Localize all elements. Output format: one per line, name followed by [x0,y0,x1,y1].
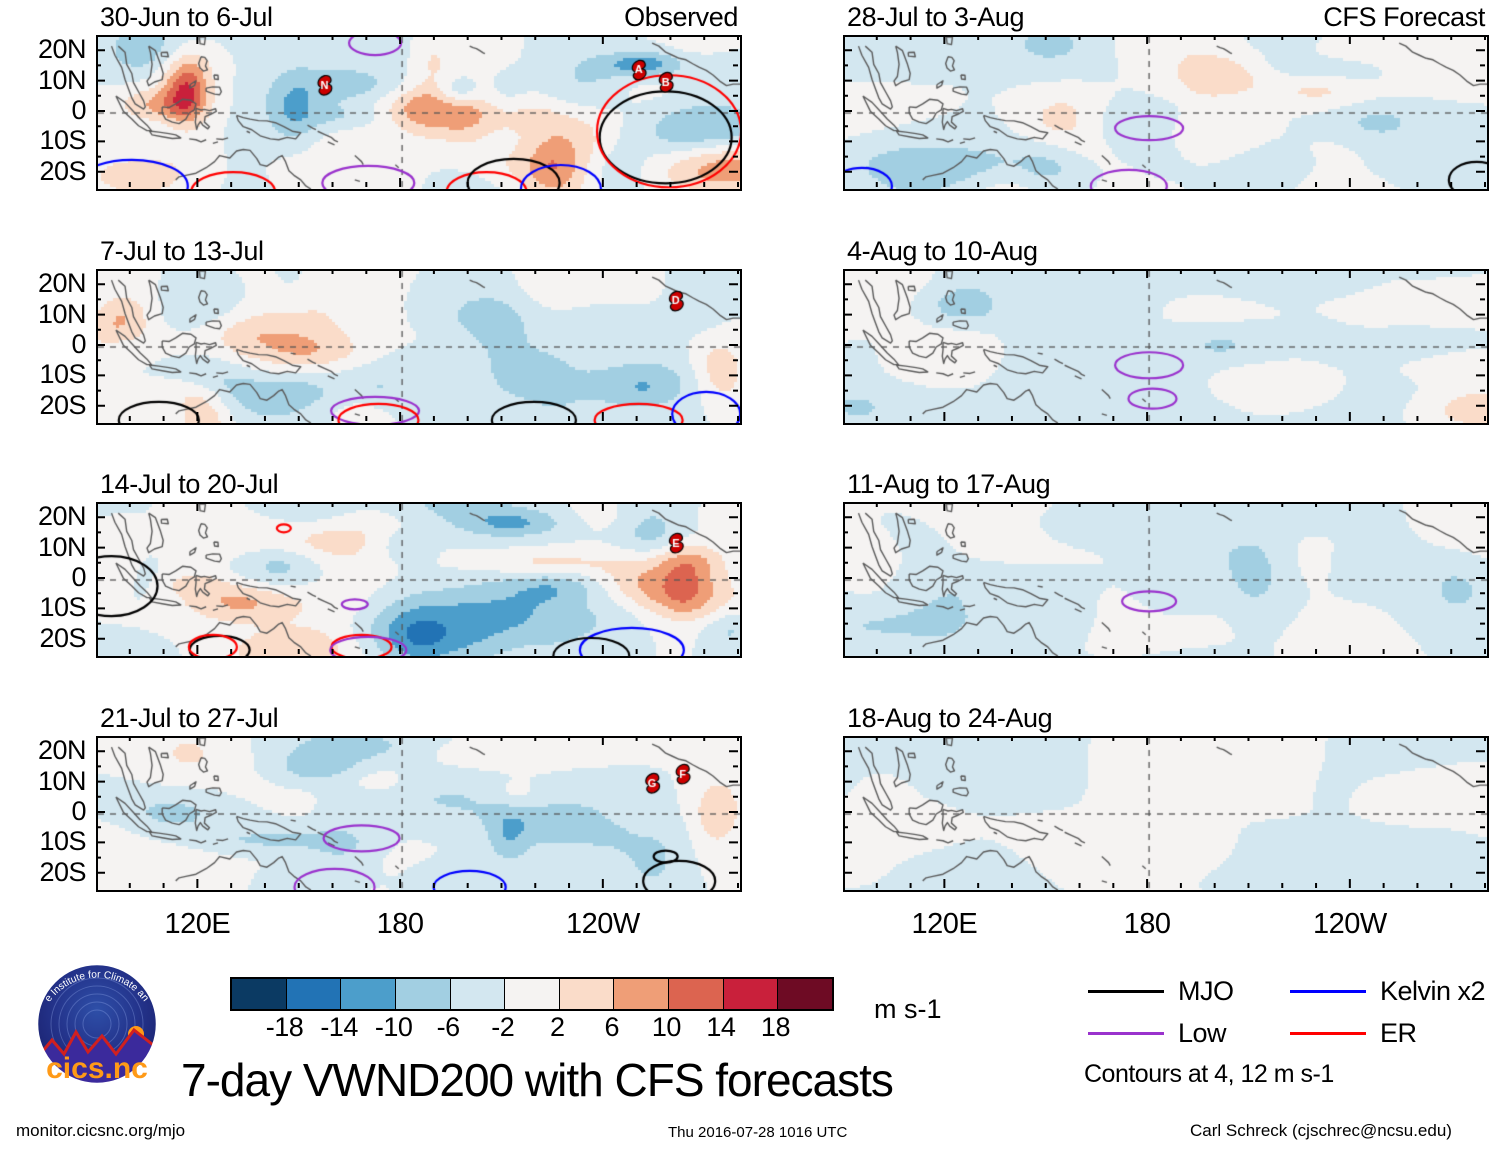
y-tick-label: 10S [39,594,86,621]
colorbar-swatch [396,979,451,1009]
colorbar-swatch [232,979,287,1009]
colorbar-swatch [560,979,615,1009]
column-header-right0: CFS Forecast [1295,4,1485,31]
colorbar-swatch [614,979,669,1009]
colorbar-tick-label: -6 [437,1014,460,1041]
map-panel-right3 [843,736,1489,892]
colorbar-swatch [778,979,832,1009]
map-panel-left0 [96,35,742,191]
y-tick-label: 10S [39,828,86,855]
column-header-left0: Observed [548,4,738,31]
legend-label-low: Low [1178,1020,1226,1047]
y-tick-label: 20S [39,625,86,652]
y-axis-labels-left2: 20N10N010S20S [0,502,86,654]
y-axis-labels-left0: 20N10N010S20S [0,35,86,187]
map-canvas-left0 [98,37,740,189]
svg-text:cics.nc: cics.nc [46,1052,148,1085]
y-tick-label: 10N [38,67,86,94]
y-tick-label: 10N [38,534,86,561]
footer-timestamp: Thu 2016-07-28 1016 UTC [668,1124,847,1141]
legend-swatch-er [1290,1032,1366,1035]
map-panel-right2 [843,502,1489,658]
map-canvas-left2 [98,504,740,656]
y-tick-label: 20S [39,158,86,185]
colorbar-tick-label: 18 [761,1014,790,1041]
colorbar-tick-label: -2 [491,1014,514,1041]
y-tick-label: 20N [38,737,86,764]
panel-title-right1: 4-Aug to 10-Aug [847,238,1038,265]
panel-title-right0: 28-Jul to 3-Aug [847,4,1024,31]
x-tick-label: 180 [377,910,424,939]
colorbar-tick-label: 10 [652,1014,681,1041]
y-tick-label: 0 [71,564,86,591]
colorbar-swatch [505,979,560,1009]
legend-item-mjo: MJO [1088,978,1234,1005]
contour-note: Contours at 4, 12 m s-1 [1084,1062,1334,1087]
y-tick-label: 20N [38,270,86,297]
map-panel-left1 [96,269,742,425]
map-canvas-right0 [845,37,1487,189]
map-canvas-right3 [845,738,1487,890]
map-panel-left2 [96,502,742,658]
legend-swatch-kelvin [1290,990,1366,993]
panel-title-left2: 14-Jul to 20-Jul [100,471,278,498]
colorbar-swatch [451,979,506,1009]
colorbar-tick-label: 14 [706,1014,735,1041]
y-tick-label: 20S [39,392,86,419]
y-axis-labels-left3: 20N10N010S20S [0,736,86,888]
colorbar-swatch [341,979,396,1009]
colorbar [230,977,834,1011]
footer-author: Carl Schreck (cjschrec@ncsu.edu) [1190,1122,1452,1139]
map-canvas-left3 [98,738,740,890]
map-panel-right1 [843,269,1489,425]
legend-item-er: ER [1290,1020,1417,1047]
panel-title-left1: 7-Jul to 13-Jul [100,238,264,265]
colorbar-tick-label: -18 [266,1014,304,1041]
x-tick-label: 120E [911,910,977,939]
map-canvas-right1 [845,271,1487,423]
y-tick-label: 20S [39,859,86,886]
panel-title-right2: 11-Aug to 17-Aug [847,471,1050,498]
map-canvas-left1 [98,271,740,423]
y-tick-label: 10S [39,127,86,154]
y-tick-label: 10S [39,361,86,388]
x-tick-label: 120W [1313,910,1387,939]
panel-title-right3: 18-Aug to 24-Aug [847,705,1052,732]
legend-item-low: Low [1088,1020,1226,1047]
panel-title-left0: 30-Jun to 6-Jul [100,4,273,31]
colorbar-swatch [287,979,342,1009]
map-panel-right0 [843,35,1489,191]
colorbar-tick-label: 2 [550,1014,565,1041]
legend-swatch-mjo [1088,990,1164,993]
x-tick-label: 120E [164,910,230,939]
legend-label-mjo: MJO [1178,978,1234,1005]
y-tick-label: 20N [38,503,86,530]
colorbar-swatch [724,979,779,1009]
x-tick-label: 120W [566,910,640,939]
y-tick-label: 0 [71,331,86,358]
legend-label-er: ER [1380,1020,1417,1047]
x-tick-label: 180 [1124,910,1171,939]
colorbar-swatch [669,979,724,1009]
y-tick-label: 0 [71,798,86,825]
footer-url[interactable]: monitor.cicsnc.org/mjo [16,1122,185,1139]
colorbar-tick-label: 6 [605,1014,620,1041]
y-tick-label: 10N [38,301,86,328]
colorbar-tick-label: -10 [375,1014,413,1041]
y-tick-label: 0 [71,97,86,124]
map-canvas-right2 [845,504,1487,656]
y-tick-label: 10N [38,768,86,795]
cics-nc-logo: Cooperative Institute for Climate and Sa… [14,962,180,1086]
y-tick-label: 20N [38,36,86,63]
legend-item-kelvin: Kelvin x2 [1290,978,1485,1005]
map-panel-left3 [96,736,742,892]
colorbar-units-label: m s-1 [874,996,942,1023]
y-axis-labels-left1: 20N10N010S20S [0,269,86,421]
legend-label-kelvin: Kelvin x2 [1380,978,1485,1005]
colorbar-tick-label: -14 [320,1014,358,1041]
figure-title: 7-day VWND200 with CFS forecasts [181,1057,893,1103]
legend-swatch-low [1088,1032,1164,1035]
panel-title-left3: 21-Jul to 27-Jul [100,705,278,732]
